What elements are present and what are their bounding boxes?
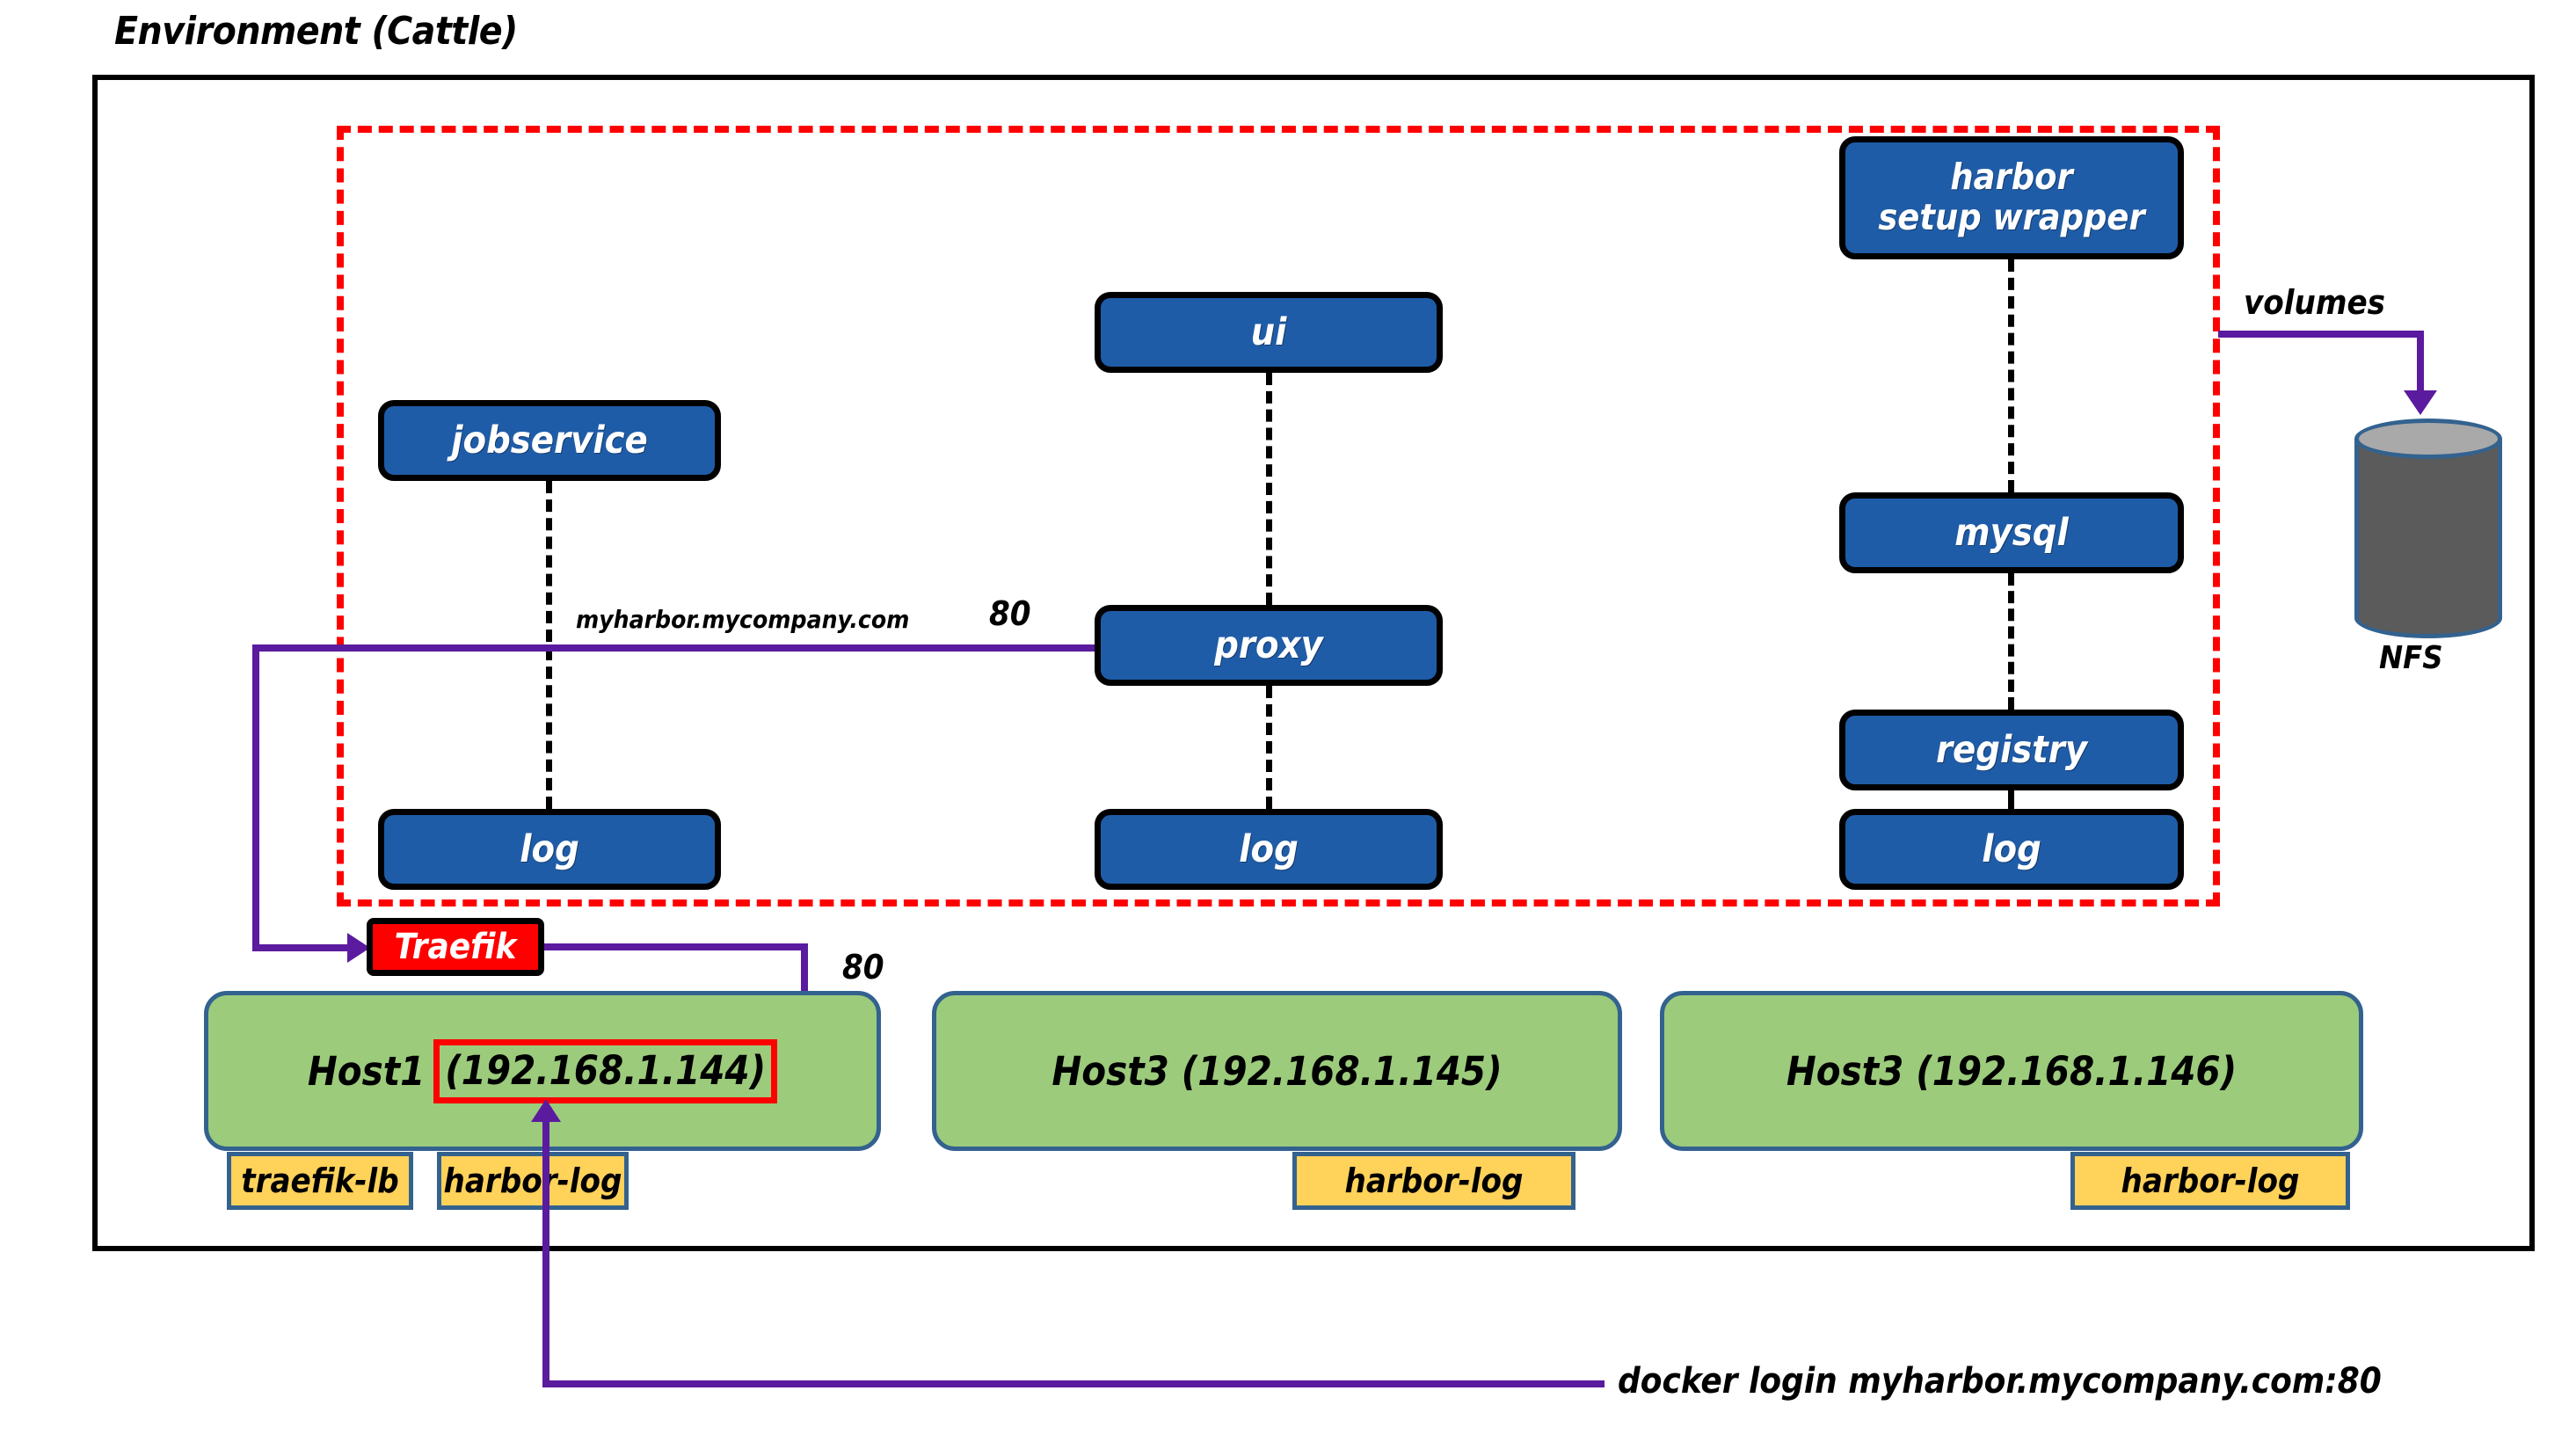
docker-login-command: docker login myharbor.mycompany.com:80 [1618, 1361, 2382, 1402]
port-annotation-proxy: 80 [989, 594, 1031, 633]
service-label: jobservice [451, 419, 648, 462]
service-label-line2: setup wrapper [1878, 198, 2144, 238]
service-box-jobservice[interactable]: jobservice [378, 400, 721, 481]
proxy-ingress-horizontal [252, 644, 1095, 652]
host-name: Host1 [308, 1048, 425, 1095]
host-ip: (192.168.1.145) [1182, 1048, 1503, 1095]
link-mysql-to-registry [2008, 573, 2014, 710]
host-box-2[interactable]: Host3 (192.168.1.145) [932, 991, 1622, 1151]
stack-chip-traefik-lb[interactable]: traefik-lb [227, 1152, 413, 1210]
port-annotation-traefik: 80 [842, 948, 884, 987]
traefik-box[interactable]: Traefik [367, 918, 544, 976]
service-box-mysql[interactable]: mysql [1839, 492, 2184, 573]
traefik-label: Traefik [395, 927, 517, 967]
docker-login-vertical [542, 1121, 549, 1387]
nfs-label: NFS [2379, 640, 2443, 676]
traefik-to-host-horizontal [544, 943, 808, 950]
proxy-ingress-vertical [252, 644, 259, 948]
service-box-log-right[interactable]: log [1839, 809, 2184, 890]
service-box-log-left[interactable]: log [378, 809, 721, 890]
stack-chip-harbor-log-host1[interactable]: harbor-log [437, 1152, 629, 1210]
host-name: Host3 [1052, 1048, 1168, 1095]
page-title: Environment (Cattle) [114, 9, 518, 54]
host-box-3[interactable]: Host3 (192.168.1.146) [1660, 991, 2363, 1151]
docker-login-horizontal [542, 1380, 1605, 1387]
host-ip-highlight: (192.168.1.144) [433, 1039, 777, 1103]
link-ui-to-proxy [1266, 373, 1272, 605]
link-proxy-to-log [1266, 686, 1272, 809]
stack-chip-harbor-log-host3[interactable]: harbor-log [2070, 1152, 2350, 1210]
volumes-label: volumes [2244, 283, 2385, 322]
service-label: log [1239, 828, 1299, 870]
volumes-link-vertical [2417, 331, 2424, 392]
host-ip: (192.168.1.146) [1916, 1048, 2237, 1095]
host-name: Host3 [1786, 1048, 1903, 1095]
chip-label: harbor-log [1345, 1161, 1524, 1200]
volumes-arrowhead-icon [2404, 390, 2437, 415]
service-box-registry[interactable]: registry [1839, 710, 2184, 790]
hostname-annotation: myharbor.mycompany.com [576, 605, 909, 634]
nfs-cylinder-body [2354, 438, 2502, 619]
stack-chip-harbor-log-host2[interactable]: harbor-log [1292, 1152, 1575, 1210]
service-label: proxy [1214, 624, 1323, 666]
chip-label: harbor-log [2121, 1161, 2300, 1200]
diagram-canvas: Environment (Cattle) jobservice log ui p… [0, 0, 2576, 1449]
nfs-cylinder-icon [2354, 419, 2502, 638]
volumes-link-horizontal [2218, 331, 2424, 338]
service-label: log [520, 828, 579, 870]
service-label: mysql [1954, 512, 2069, 554]
service-box-harbor-setup-wrapper[interactable]: harbor setup wrapper [1839, 136, 2184, 259]
chip-label: harbor-log [444, 1161, 622, 1200]
traefik-ingress-horizontal [252, 944, 349, 951]
service-box-log-center[interactable]: log [1095, 809, 1443, 890]
service-box-ui[interactable]: ui [1095, 292, 1443, 373]
service-label: log [1982, 828, 2041, 870]
service-label: registry [1936, 729, 2087, 771]
service-box-proxy[interactable]: proxy [1095, 605, 1443, 686]
service-label: ui [1251, 311, 1287, 353]
link-wrapper-to-mysql [2008, 259, 2014, 492]
service-label-line1: harbor [1950, 157, 2072, 198]
nfs-cylinder-top [2354, 419, 2502, 459]
chip-label: traefik-lb [241, 1161, 398, 1200]
docker-login-arrowhead-icon [531, 1099, 561, 1122]
